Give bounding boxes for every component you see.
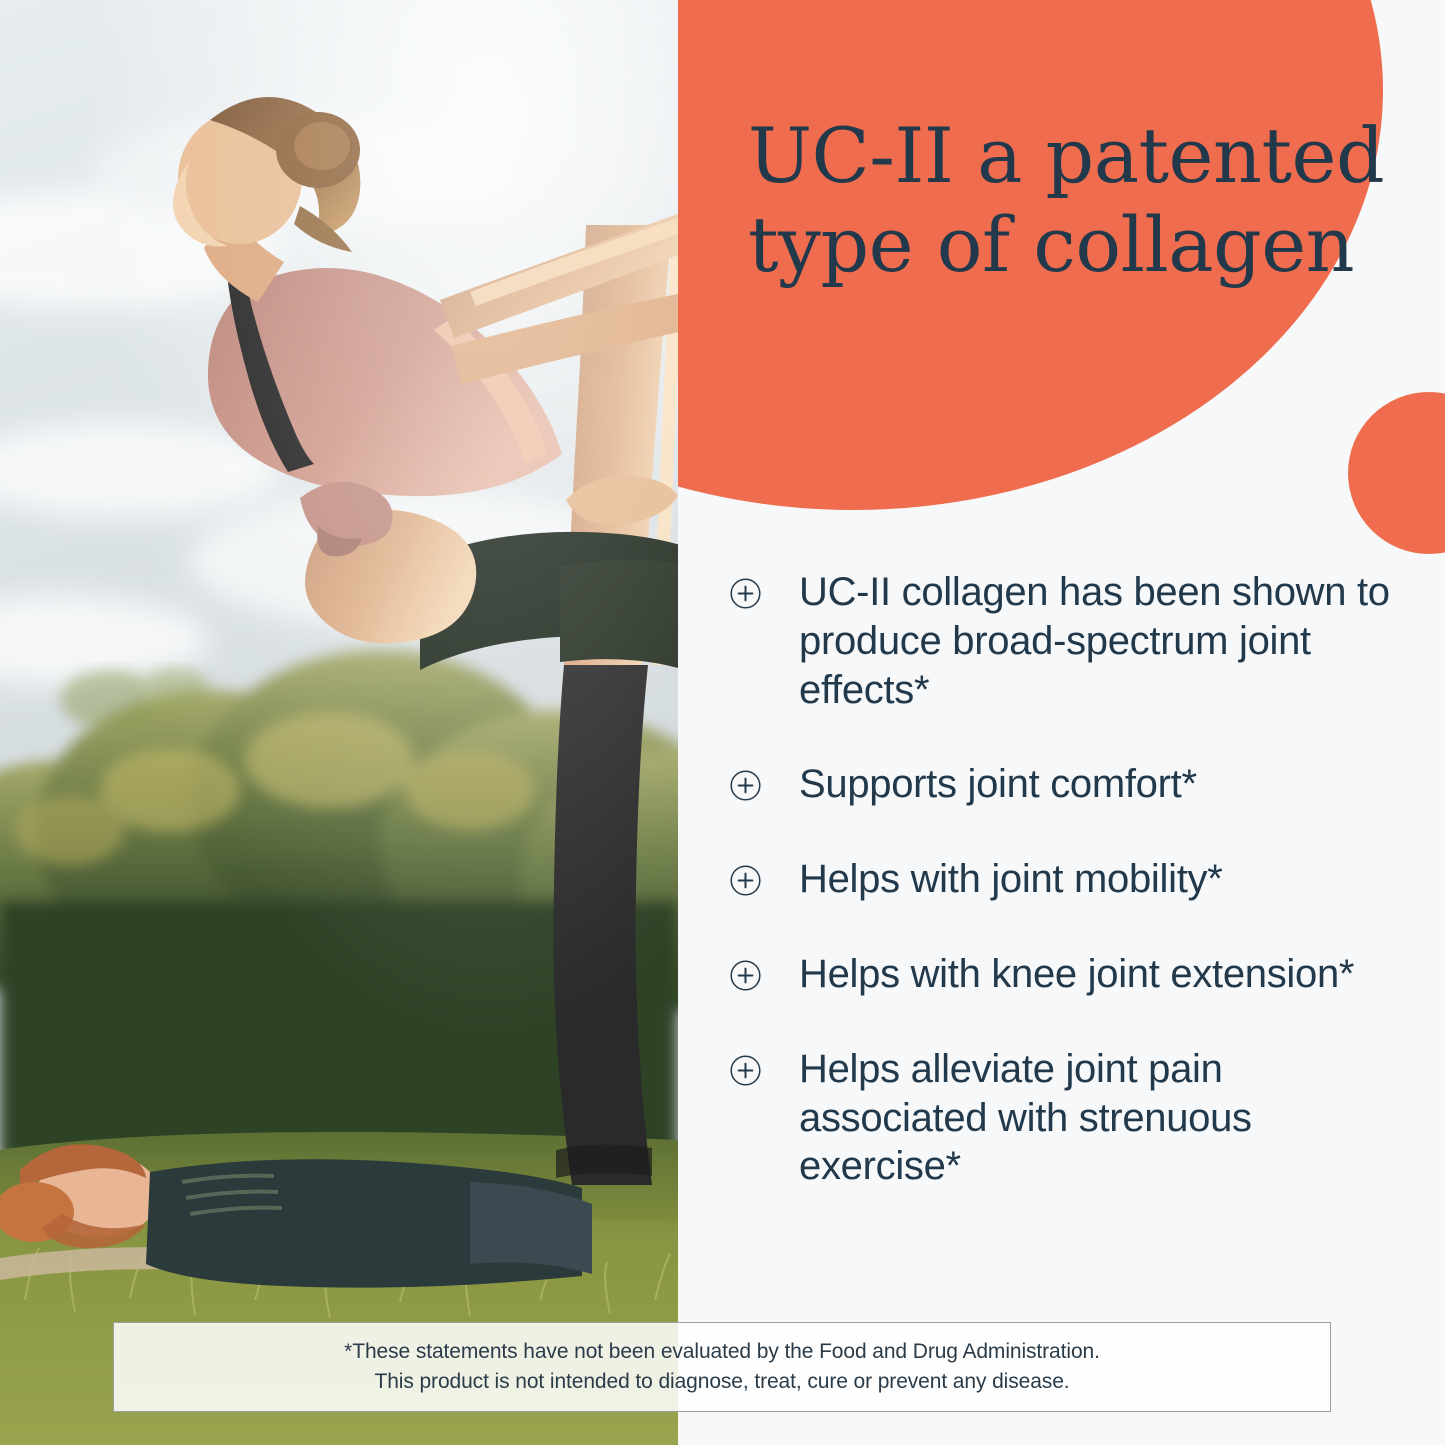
benefit-label: UC-II collagen has been shown to produce… (799, 568, 1410, 714)
list-item: UC-II collagen has been shown to produce… (730, 568, 1410, 714)
content-panel: UC-II a patented type of collagen UC-II … (678, 0, 1445, 1445)
list-item: Helps with joint mobility* (730, 855, 1410, 904)
photo-illustration (0, 0, 678, 1445)
list-item: Helps alleviate joint pain associated wi… (730, 1045, 1410, 1191)
page-title: UC-II a patented type of collagen (748, 112, 1388, 290)
plus-circle-icon (730, 865, 761, 896)
benefit-label: Supports joint comfort* (799, 760, 1197, 809)
orange-circle-accent (1348, 392, 1445, 554)
list-item: Helps with knee joint extension* (730, 950, 1410, 999)
benefit-label: Helps with knee joint extension* (799, 950, 1354, 999)
benefit-label: Helps with joint mobility* (799, 855, 1222, 904)
benefit-label: Helps alleviate joint pain associated wi… (799, 1045, 1410, 1191)
disclaimer-line-2: This product is not intended to diagnose… (374, 1367, 1069, 1397)
lifestyle-photo (0, 0, 678, 1445)
plus-circle-icon (730, 960, 761, 991)
disclaimer-box: *These statements have not been evaluate… (113, 1322, 1331, 1412)
product-infographic: UC-II a patented type of collagen UC-II … (0, 0, 1445, 1445)
disclaimer-line-1: *These statements have not been evaluate… (344, 1337, 1100, 1367)
plus-circle-icon (730, 578, 761, 609)
list-item: Supports joint comfort* (730, 760, 1410, 809)
plus-circle-icon (730, 1055, 761, 1086)
benefits-list: UC-II collagen has been shown to produce… (730, 568, 1410, 1191)
plus-circle-icon (730, 770, 761, 801)
